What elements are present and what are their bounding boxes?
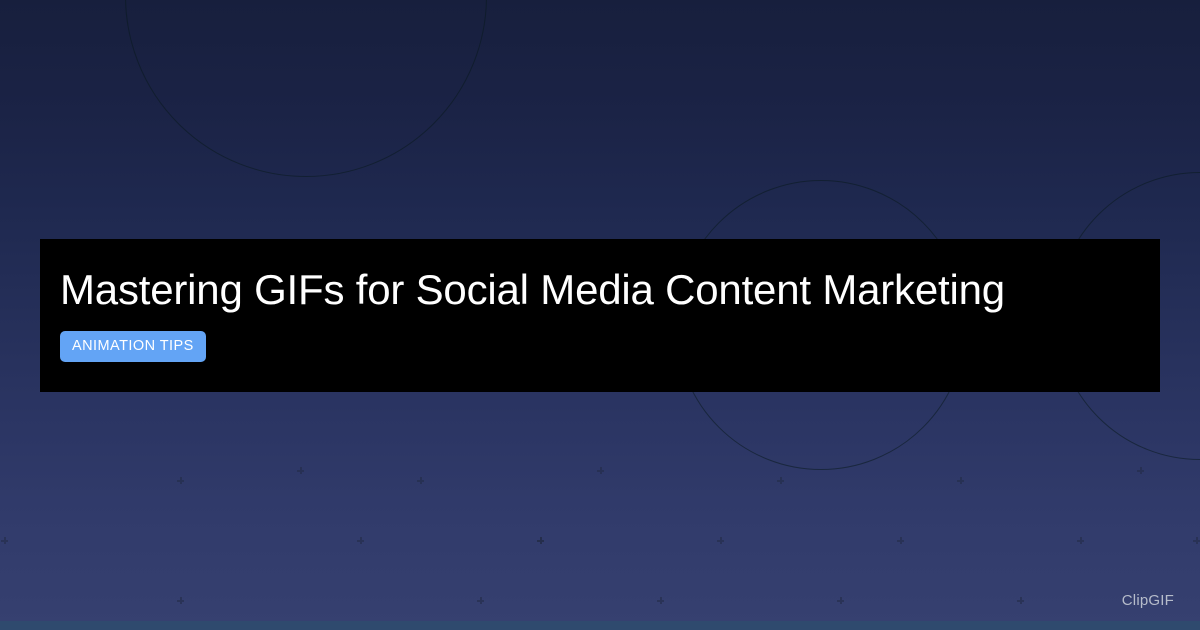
decorative-cross-mark (657, 597, 664, 604)
decorative-circle-outline-top-left (125, 0, 487, 177)
page-title: Mastering GIFs for Social Media Content … (60, 265, 1140, 315)
decorative-cross-mark (417, 477, 424, 484)
decorative-cross-mark (837, 597, 844, 604)
decorative-cross-mark (297, 467, 304, 474)
title-plate: Mastering GIFs for Social Media Content … (40, 239, 1160, 392)
decorative-cross-mark (1193, 537, 1200, 544)
decorative-cross-mark (957, 477, 964, 484)
decorative-cross-mark (597, 467, 604, 474)
decorative-cross-mark (177, 597, 184, 604)
decorative-cross-mark (537, 537, 544, 544)
decorative-cross-mark (177, 477, 184, 484)
category-badge[interactable]: ANIMATION TIPS (60, 331, 206, 362)
decorative-cross-mark (477, 597, 484, 604)
decorative-cross-mark (1077, 537, 1084, 544)
decorative-cross-mark (537, 537, 544, 544)
decorative-cross-mark (357, 537, 364, 544)
decorative-cross-mark (717, 537, 724, 544)
bottom-accent-bar (0, 621, 1200, 630)
decorative-cross-mark (897, 537, 904, 544)
social-share-card: Mastering GIFs for Social Media Content … (0, 0, 1200, 630)
decorative-cross-mark (1137, 467, 1144, 474)
decorative-cross-mark (1, 537, 8, 544)
decorative-cross-mark (1017, 597, 1024, 604)
decorative-cross-mark (777, 477, 784, 484)
brand-watermark: ClipGIF (1122, 593, 1174, 608)
